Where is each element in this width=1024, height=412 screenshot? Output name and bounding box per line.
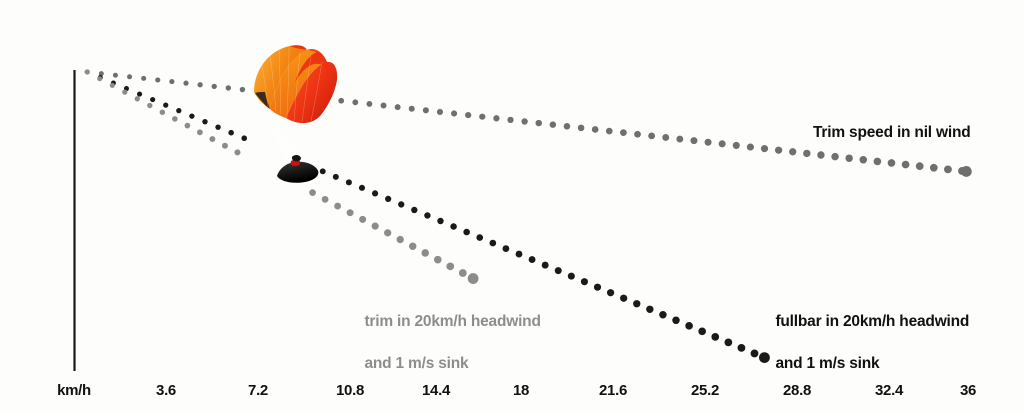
series-dot xyxy=(930,164,938,172)
series-dot xyxy=(493,115,499,121)
series-label-fullbar-line1: fullbar in 20km/h headwind xyxy=(775,313,969,330)
series-dot xyxy=(751,349,759,357)
series-label-trim-headwind-line1: trim in 20km/h headwind xyxy=(364,313,540,330)
series-dot xyxy=(620,295,627,302)
series-dot xyxy=(831,153,838,160)
series-dot xyxy=(437,218,443,224)
series-dot xyxy=(738,344,746,352)
series-dot xyxy=(902,161,910,169)
series-dot xyxy=(479,114,485,120)
series-dot xyxy=(888,159,896,167)
series-dot xyxy=(434,256,442,264)
series-dot xyxy=(789,148,796,155)
series-dot xyxy=(733,142,740,149)
series-dot xyxy=(542,262,549,269)
x-tick-label-2: 7.2 xyxy=(248,382,268,399)
series-dot xyxy=(620,129,627,136)
series-dot xyxy=(215,124,220,129)
series-dot xyxy=(137,92,142,97)
series-label-fullbar: fullbar in 20km/h headwind and 1 m/s sin… xyxy=(759,290,969,395)
series-dot xyxy=(578,125,585,132)
series-dot xyxy=(189,113,194,118)
series-dot xyxy=(234,149,240,155)
series-dot xyxy=(698,328,706,336)
series-dot xyxy=(347,209,354,216)
series-dot xyxy=(222,143,228,149)
series-label-fullbar-line2: and 1 m/s sink xyxy=(775,355,879,372)
series-dot xyxy=(228,130,234,136)
x-tick-label-1: 3.6 xyxy=(156,382,176,399)
series-dot xyxy=(359,185,365,191)
series-dot xyxy=(775,147,782,154)
series-dot xyxy=(463,229,470,236)
series-dot xyxy=(322,196,329,203)
x-tick-label-0: km/h xyxy=(57,382,91,399)
series-dot xyxy=(197,129,203,135)
series-dot xyxy=(503,245,510,252)
paraglider-icon xyxy=(243,30,347,190)
series-dot xyxy=(384,229,391,236)
series-label-trim-headwind-line2: and 1 m/s sink xyxy=(364,355,468,372)
series-dot xyxy=(465,112,471,118)
series-dot xyxy=(594,284,601,291)
series-dot xyxy=(711,333,719,341)
series-dot xyxy=(581,278,588,285)
x-tick-label-6: 21.6 xyxy=(599,382,627,399)
series-dot xyxy=(209,136,215,142)
series-dot xyxy=(761,145,768,152)
series-dot xyxy=(409,243,416,250)
series-dot xyxy=(916,162,924,170)
series-dot xyxy=(97,76,102,81)
series-dot xyxy=(446,262,454,270)
series-dot xyxy=(113,73,118,78)
series-dot xyxy=(197,82,202,87)
series-dot xyxy=(803,150,810,157)
series-dot xyxy=(334,203,341,210)
series-dot xyxy=(817,151,824,158)
series-dot xyxy=(411,207,417,213)
series-dot xyxy=(459,269,467,277)
series-endpoint-marker xyxy=(961,166,972,177)
series-dot xyxy=(395,104,401,110)
series-dot xyxy=(747,143,754,150)
series-dot xyxy=(183,81,188,86)
glide-polar-chart: km/h 3.6 7.2 10.8 14.4 18 21.6 25.2 28.8… xyxy=(0,0,1024,412)
series-dot xyxy=(147,103,152,108)
series-dot xyxy=(516,251,523,258)
series-dot xyxy=(451,110,457,116)
series-dot xyxy=(450,223,457,230)
series-endpoint-marker xyxy=(468,273,479,284)
series-dot xyxy=(690,137,697,144)
series-dot xyxy=(424,212,430,218)
series-dot xyxy=(185,123,191,129)
series-dot xyxy=(372,190,378,196)
series-dot xyxy=(85,70,90,75)
series-dot xyxy=(212,84,217,89)
series-dot xyxy=(555,267,562,274)
series-dot xyxy=(676,136,683,143)
series-dot xyxy=(135,96,140,101)
series-dot xyxy=(646,306,653,313)
series-dot xyxy=(409,106,415,112)
series-dot xyxy=(385,196,391,202)
series-dot xyxy=(398,201,404,207)
series-dot xyxy=(705,139,712,146)
series-dot xyxy=(366,101,372,107)
series-dot xyxy=(110,83,115,88)
series-dot xyxy=(127,74,132,79)
series-dot xyxy=(381,103,387,109)
series-dot xyxy=(150,97,155,102)
series-dot xyxy=(489,240,496,247)
series-dot xyxy=(397,236,404,243)
series-dot xyxy=(724,339,732,347)
series-dot xyxy=(648,132,655,139)
series-dot xyxy=(719,140,726,147)
x-tick-label-7: 25.2 xyxy=(691,382,719,399)
series-dot xyxy=(685,322,693,330)
series-dot xyxy=(176,108,181,113)
series-dot xyxy=(944,165,952,173)
series-dot xyxy=(529,256,536,263)
series-dot xyxy=(845,154,853,162)
series-dot xyxy=(172,116,178,122)
series-dot xyxy=(155,77,160,82)
series-dot xyxy=(160,109,165,114)
series-dot xyxy=(672,317,680,325)
series-dot xyxy=(564,123,571,130)
series-dot xyxy=(662,134,669,141)
series-dot xyxy=(633,300,640,307)
series-dot xyxy=(352,99,358,105)
series-dot xyxy=(372,223,379,230)
series-dot xyxy=(423,107,429,113)
series-dot xyxy=(874,158,882,166)
series-dot xyxy=(141,76,146,81)
series-dot xyxy=(122,90,127,95)
series-dot xyxy=(163,102,168,107)
series-dot xyxy=(521,118,527,124)
series-dot xyxy=(421,249,429,257)
series-dot xyxy=(202,119,207,124)
series-dot xyxy=(634,131,641,138)
series-dot xyxy=(437,109,443,115)
series-dot xyxy=(606,128,613,135)
series-dot xyxy=(568,273,575,280)
series-dot xyxy=(507,117,513,123)
series-dot xyxy=(607,289,614,296)
series-dot xyxy=(592,126,599,133)
series-dot xyxy=(860,156,868,164)
series-label-trim-headwind: trim in 20km/h headwind and 1 m/s sink xyxy=(348,290,541,395)
series-dot xyxy=(659,311,666,318)
series-dot xyxy=(226,85,231,90)
series-dot xyxy=(309,189,316,196)
series-dot xyxy=(550,121,556,127)
series-dot xyxy=(476,234,483,241)
series-dot xyxy=(359,216,366,223)
series-dot xyxy=(169,79,174,84)
series-label-trim-nil-wind: Trim speed in nil wind xyxy=(813,122,971,143)
series-dot xyxy=(536,120,542,126)
